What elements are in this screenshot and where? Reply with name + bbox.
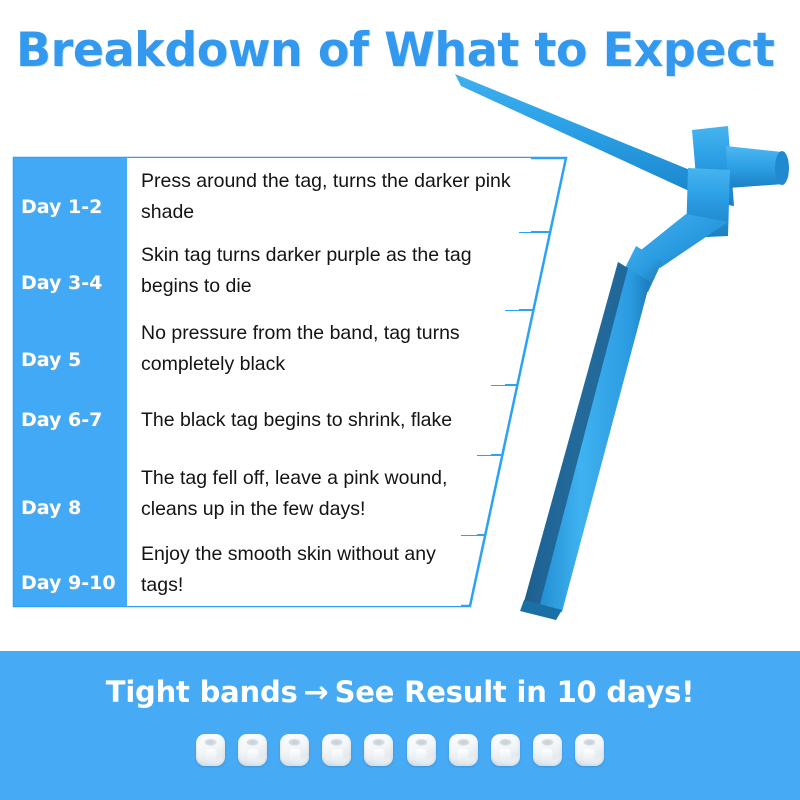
description-cell: Skin tag turns darker purple as the tag … <box>127 232 519 310</box>
description-text: No pressure from the band, tag turns com… <box>141 322 460 375</box>
description-cell: Press around the tag, turns the darker p… <box>127 158 531 232</box>
rubber-band-ring-icon <box>364 734 393 766</box>
day-label-cell: Day 8 <box>14 455 127 535</box>
description-text: Enjoy the smooth skin without any tags! <box>141 543 436 596</box>
day-label-cell: Day 5 <box>14 310 127 385</box>
rubber-band-ring-icon <box>575 734 604 766</box>
rubber-band-ring-icon <box>533 734 562 766</box>
day-label: Day 1-2 <box>21 196 102 218</box>
day-label: Day 3-4 <box>21 272 102 294</box>
day-label-cell: Day 1-2 <box>14 158 127 232</box>
poster-root: Breakdown of What to Expect <box>0 0 800 800</box>
arrow-right-icon: → <box>298 674 335 712</box>
description-cell: Enjoy the smooth skin without any tags! <box>127 535 461 606</box>
rubber-band-ring-icon <box>407 734 436 766</box>
expectations-table: Day 1-2 Press around the tag, turns the … <box>14 158 566 606</box>
banner-lead-text: Tight bands <box>106 675 298 709</box>
day-label-cell: Day 9-10 <box>14 535 127 606</box>
day-label-cell: Day 3-4 <box>14 232 127 310</box>
band-row <box>196 732 604 768</box>
banner-result-text: See Result in 10 days! <box>335 675 695 709</box>
rubber-band-ring-icon <box>196 734 225 766</box>
description-text: Press around the tag, turns the darker p… <box>141 170 511 223</box>
description-cell: No pressure from the band, tag turns com… <box>127 310 505 385</box>
bottom-banner: Tight bands→See Result in 10 days! <box>0 651 800 800</box>
table-row[interactable]: Day 6-7 The black tag begins to shrink, … <box>14 385 566 455</box>
rubber-band-ring-icon <box>491 734 520 766</box>
day-label: Day 9-10 <box>21 572 116 594</box>
rubber-band-ring-icon <box>322 734 351 766</box>
day-label: Day 8 <box>21 497 81 519</box>
rubber-band-ring-icon <box>238 734 267 766</box>
table-row[interactable]: Day 9-10 Enjoy the smooth skin without a… <box>14 535 566 606</box>
description-text: Skin tag turns darker purple as the tag … <box>141 244 472 297</box>
table-row[interactable]: Day 3-4 Skin tag turns darker purple as … <box>14 232 566 310</box>
banner-headline: Tight bands→See Result in 10 days! <box>0 673 800 712</box>
rubber-band-ring-icon <box>280 734 309 766</box>
description-cell: The tag fell off, leave a pink wound, cl… <box>127 455 477 535</box>
day-label: Day 6-7 <box>21 409 102 431</box>
description-text: The tag fell off, leave a pink wound, cl… <box>141 467 447 520</box>
day-label: Day 5 <box>21 349 81 371</box>
table-row[interactable]: Day 8 The tag fell off, leave a pink wou… <box>14 455 566 535</box>
rubber-band-ring-icon <box>449 734 478 766</box>
day-label-cell: Day 6-7 <box>14 385 127 455</box>
table-row[interactable]: Day 5 No pressure from the band, tag tur… <box>14 310 566 385</box>
description-text: The black tag begins to shrink, flake <box>141 405 452 436</box>
table-row[interactable]: Day 1-2 Press around the tag, turns the … <box>14 158 566 232</box>
description-cell: The black tag begins to shrink, flake <box>127 385 491 455</box>
